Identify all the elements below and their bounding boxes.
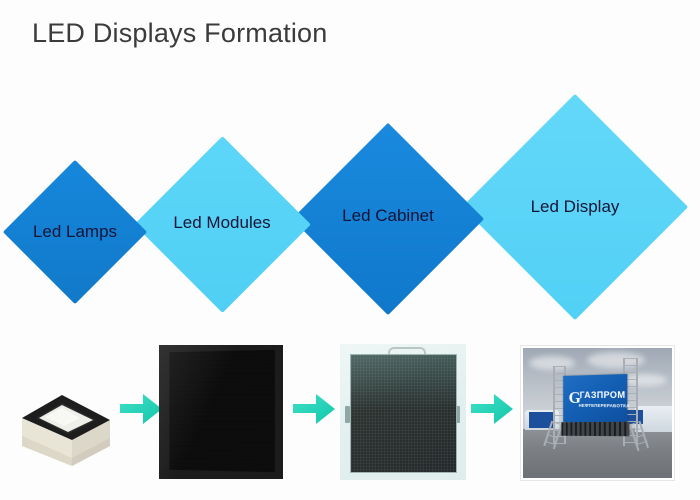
cabinet-glare: [351, 355, 456, 409]
photo-led-cabinet: [340, 344, 466, 480]
billboard-screen: G ГАЗПРОМ НЕФТЕПЕРЕРАБОТКА: [563, 374, 627, 424]
photo-led-module: [159, 345, 283, 479]
photo-led-lamp: [14, 362, 119, 480]
arrow-cabinet-to-display: [470, 392, 514, 431]
right-arrow-icon: [470, 392, 514, 426]
infographic-canvas: LED Displays Formation Led Lamps Led Mod…: [0, 0, 700, 500]
arrow-module-to-cabinet: [292, 392, 336, 431]
right-arrow-icon: [292, 392, 336, 426]
gazprom-brand-name: ГАЗПРОМ: [580, 390, 626, 400]
photo-outdoor-led-display: G ГАЗПРОМ НЕФТЕПЕРЕРАБОТКА: [520, 345, 675, 481]
arrow-lamp-to-module: [119, 392, 163, 431]
right-arrow-icon: [119, 392, 163, 426]
diamond-led-lamps[interactable]: [3, 160, 147, 304]
page-title: LED Displays Formation: [32, 18, 328, 49]
diamond-led-modules[interactable]: [134, 136, 311, 313]
led-lamp-illustration: [14, 362, 119, 480]
cloud: [529, 356, 575, 370]
cabinet-panel: [350, 354, 457, 473]
billboard-base: [561, 422, 629, 437]
outdoor-scene: G ГАЗПРОМ НЕФТЕПЕРЕРАБОТКА: [523, 348, 672, 478]
gazprom-brand-subtitle: НЕФТЕПЕРЕРАБОТКА: [579, 403, 630, 408]
module-sheen: [159, 345, 283, 479]
diamond-led-cabinet[interactable]: [292, 123, 484, 315]
diamond-led-display[interactable]: [462, 94, 688, 320]
